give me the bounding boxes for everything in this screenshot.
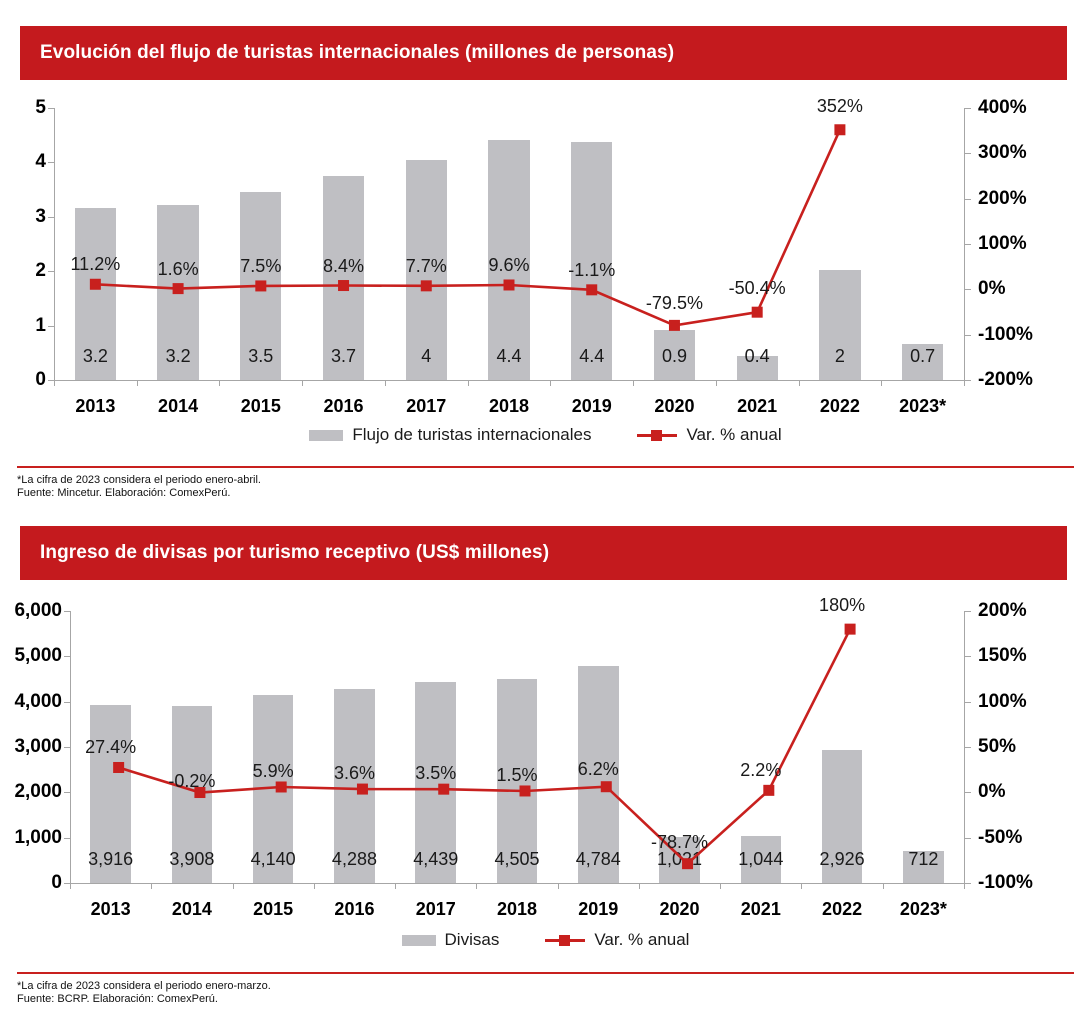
- variation-label: -50.4%: [729, 278, 786, 299]
- line-marker: [834, 124, 845, 135]
- variation-label: 180%: [819, 595, 865, 616]
- y-tick-right: [965, 883, 971, 884]
- x-tick: [385, 380, 386, 386]
- chart-panel-foreign-exchange: Ingreso de divisas por turismo receptivo…: [0, 510, 1091, 1020]
- x-tick: [219, 380, 220, 386]
- chart-title-1: Evolución del flujo de turistas internac…: [40, 42, 674, 64]
- plot-area-2: 2013201420152016201720182019202020212022…: [0, 598, 1091, 908]
- y-tick-label-left: 3: [35, 206, 46, 228]
- variation-label: 7.5%: [240, 256, 281, 277]
- variation-label: 7.7%: [406, 256, 447, 277]
- legend-item-line-2: Var. % anual: [545, 930, 689, 950]
- line-marker: [586, 284, 597, 295]
- variation-label: 352%: [817, 96, 863, 117]
- x-tick: [639, 883, 640, 889]
- axis-bottom-1: [54, 380, 965, 381]
- y-tick-label-right: 200%: [978, 600, 1027, 622]
- x-tick: [883, 883, 884, 889]
- variation-label: 2.2%: [740, 760, 781, 781]
- footer-divider-2: [17, 972, 1074, 974]
- line-marker: [276, 781, 287, 792]
- footer-1: *La cifra de 2023 considera el periodo e…: [17, 466, 1074, 500]
- variation-label: -79.5%: [646, 293, 703, 314]
- chart-title-2: Ingreso de divisas por turismo receptivo…: [40, 542, 549, 564]
- x-tick: [799, 380, 800, 386]
- line-marker: [438, 784, 449, 795]
- variation-label: -1.1%: [568, 260, 615, 281]
- legend-label-bars-1: Flujo de turistas internacionales: [352, 425, 591, 445]
- line-marker: [338, 280, 349, 291]
- legend-label-line-1: Var. % anual: [686, 425, 781, 445]
- x-tick: [314, 883, 315, 889]
- line-marker: [601, 781, 612, 792]
- x-tick: [70, 883, 71, 889]
- plot-canvas-2: 2013201420152016201720182019202020212022…: [70, 611, 964, 883]
- y-tick-label-right: 400%: [978, 97, 1027, 119]
- y-tick-label-left: 6,000: [14, 600, 62, 622]
- variation-label: 27.4%: [85, 737, 136, 758]
- footnote-1b: Fuente: Mincetur. Elaboración: ComexPerú…: [17, 487, 1074, 500]
- chart-header-2: Ingreso de divisas por turismo receptivo…: [20, 526, 1067, 580]
- y-tick-label-right: 300%: [978, 142, 1027, 164]
- y-tick-label-left: 1: [35, 315, 46, 337]
- x-axis-label: 2014: [158, 396, 198, 417]
- line-path: [119, 629, 851, 864]
- x-axis-label: 2014: [172, 899, 212, 920]
- x-axis-label: 2016: [324, 396, 364, 417]
- y-tick-label-right: 100%: [978, 233, 1027, 255]
- y-tick-label-right: 100%: [978, 691, 1027, 713]
- variation-label: 11.2%: [71, 254, 121, 275]
- x-axis-label: 2021: [741, 899, 781, 920]
- legend-label-bars-2: Divisas: [445, 930, 500, 950]
- y-tick-label-right: 150%: [978, 645, 1027, 667]
- line-marker-icon: [545, 933, 585, 947]
- x-axis-label: 2023*: [899, 396, 946, 417]
- y-tick-label-right: -200%: [978, 369, 1033, 391]
- line-marker: [845, 624, 856, 635]
- y-tick-label-right: -100%: [978, 324, 1033, 346]
- y-tick-label-right: -50%: [978, 827, 1022, 849]
- y-tick-right: [965, 380, 971, 381]
- y-tick-label-left: 5,000: [14, 645, 62, 667]
- y-tick-right: [965, 108, 971, 109]
- plot-canvas-1: 2013201420152016201720182019202020212022…: [54, 108, 964, 380]
- x-tick: [558, 883, 559, 889]
- variation-label: 1.5%: [496, 765, 537, 786]
- y-tick-right: [965, 244, 971, 245]
- y-tick-label-left: 2: [35, 260, 46, 282]
- y-tick-label-left: 5: [35, 97, 46, 119]
- x-axis-label: 2023*: [900, 899, 947, 920]
- plot-area-1: 2013201420152016201720182019202020212022…: [0, 95, 1091, 405]
- variation-label: 5.9%: [253, 761, 294, 782]
- x-axis-label: 2015: [253, 899, 293, 920]
- x-tick: [137, 380, 138, 386]
- y-tick-right: [965, 289, 971, 290]
- x-axis-label: 2017: [406, 396, 446, 417]
- x-tick: [801, 883, 802, 889]
- chart-panel-tourist-flow: Evolución del flujo de turistas internac…: [0, 0, 1091, 510]
- variation-label: 3.5%: [415, 763, 456, 784]
- x-axis-label: 2019: [578, 899, 618, 920]
- bar-swatch-icon: [309, 430, 343, 441]
- x-tick: [716, 380, 717, 386]
- y-tick-label-left: 0: [35, 369, 46, 391]
- legend-item-line-1: Var. % anual: [637, 425, 781, 445]
- line-marker: [763, 785, 774, 796]
- x-axis-label: 2022: [820, 396, 860, 417]
- y-tick-right: [965, 199, 971, 200]
- footer-2: *La cifra de 2023 considera el periodo e…: [17, 972, 1074, 1006]
- x-axis-label: 2017: [416, 899, 456, 920]
- line-marker: [421, 280, 432, 291]
- legend-1: Flujo de turistas internacionales Var. %…: [0, 425, 1091, 445]
- y-tick-label-left: 3,000: [14, 736, 62, 758]
- x-axis-label: 2019: [572, 396, 612, 417]
- variation-label: 3.6%: [334, 763, 375, 784]
- line-marker: [669, 320, 680, 331]
- line-marker: [682, 858, 693, 869]
- x-tick: [233, 883, 234, 889]
- y-tick-right: [965, 153, 971, 154]
- y-tick-right: [965, 335, 971, 336]
- x-tick: [720, 883, 721, 889]
- y-tick-label-right: 50%: [978, 736, 1016, 758]
- legend-label-line-2: Var. % anual: [594, 930, 689, 950]
- footnote-2b: Fuente: BCRP. Elaboración: ComexPerú.: [17, 993, 1074, 1006]
- y-tick-label-left: 4,000: [14, 691, 62, 713]
- line-marker-icon: [637, 428, 677, 442]
- x-axis-label: 2015: [241, 396, 281, 417]
- footnote-1a: *La cifra de 2023 considera el periodo e…: [17, 474, 1074, 487]
- x-tick: [881, 380, 882, 386]
- line-marker: [113, 762, 124, 773]
- variation-line-series: [54, 108, 964, 380]
- line-marker: [173, 283, 184, 294]
- x-axis-label: 2020: [660, 899, 700, 920]
- variation-label: 9.6%: [488, 255, 529, 276]
- x-tick: [964, 380, 965, 386]
- x-axis-label: 2016: [334, 899, 374, 920]
- x-axis-label: 2018: [489, 396, 529, 417]
- x-tick: [550, 380, 551, 386]
- variation-label: -0.2%: [168, 771, 215, 792]
- y-tick-label-right: -100%: [978, 872, 1033, 894]
- footnote-2a: *La cifra de 2023 considera el periodo e…: [17, 980, 1074, 993]
- y-tick-label-right: 0%: [978, 781, 1005, 803]
- variation-label: 6.2%: [578, 759, 619, 780]
- x-axis-label: 2018: [497, 899, 537, 920]
- bar-swatch-icon: [402, 935, 436, 946]
- x-tick: [468, 380, 469, 386]
- line-marker: [90, 279, 101, 290]
- y-axis-left-labels-1: [0, 108, 46, 380]
- legend-item-bars-2: Divisas: [402, 930, 500, 950]
- x-axis-label: 2020: [654, 396, 694, 417]
- x-axis-label: 2013: [75, 396, 115, 417]
- footer-divider-1: [17, 466, 1074, 468]
- line-marker: [520, 785, 531, 796]
- y-tick-label-right: 0%: [978, 278, 1005, 300]
- chart-header-1: Evolución del flujo de turistas internac…: [20, 26, 1067, 80]
- x-tick: [54, 380, 55, 386]
- line-marker: [504, 279, 515, 290]
- line-marker: [752, 307, 763, 318]
- x-tick: [633, 380, 634, 386]
- variation-label: 1.6%: [158, 259, 199, 280]
- variation-label: -78.7%: [651, 832, 708, 853]
- y-tick-label-left: 0: [51, 872, 62, 894]
- line-marker: [357, 784, 368, 795]
- legend-2: Divisas Var. % anual: [0, 930, 1091, 950]
- x-axis-label: 2022: [822, 899, 862, 920]
- y-tick-label-left: 4: [35, 151, 46, 173]
- legend-item-bars-1: Flujo de turistas internacionales: [309, 425, 591, 445]
- y-tick-label-left: 2,000: [14, 781, 62, 803]
- x-tick: [476, 883, 477, 889]
- axis-bottom-2: [70, 883, 965, 884]
- y-tick-label-left: 1,000: [14, 827, 62, 849]
- x-axis-label: 2021: [737, 396, 777, 417]
- y-tick-label-right: 200%: [978, 188, 1027, 210]
- variation-label: 8.4%: [323, 256, 364, 277]
- line-marker: [255, 280, 266, 291]
- x-tick: [151, 883, 152, 889]
- x-tick: [395, 883, 396, 889]
- x-tick: [302, 380, 303, 386]
- x-axis-label: 2013: [91, 899, 131, 920]
- variation-line-series: [70, 611, 980, 883]
- x-tick: [964, 883, 965, 889]
